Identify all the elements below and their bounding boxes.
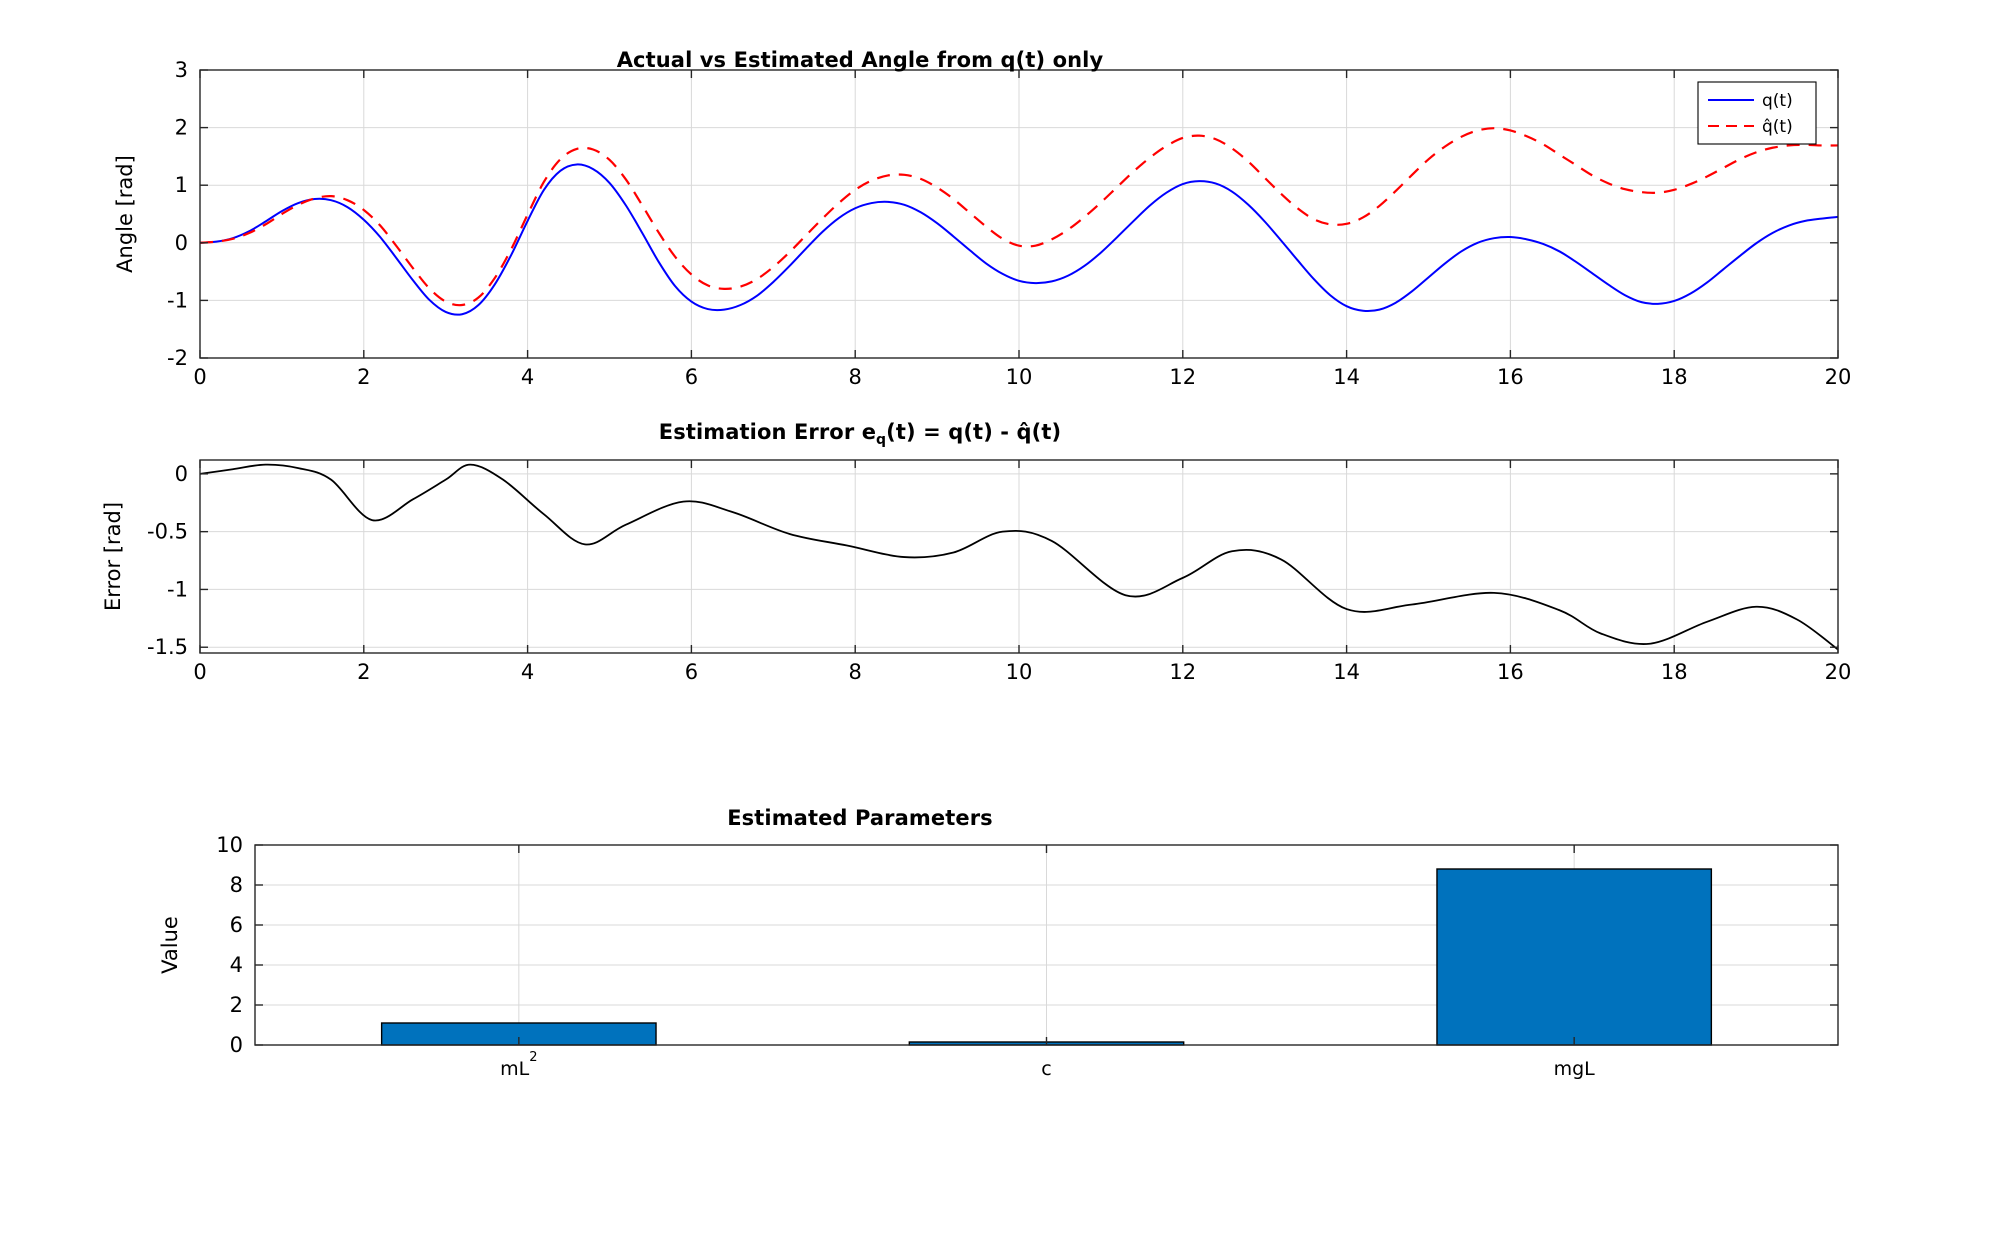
error-title-subscript: q	[876, 432, 886, 448]
y-tick-label: -1	[167, 288, 188, 312]
x-tick-label: 6	[685, 365, 698, 389]
bar-mgL[interactable]	[1437, 869, 1711, 1045]
y-tick-label: 0	[230, 1033, 243, 1057]
matlab-figure: Actual vs Estimated Angle from q(t) only…	[0, 0, 2000, 1250]
y-tick-label: 1	[175, 173, 188, 197]
x-tick-label: 8	[849, 660, 862, 684]
y-tick-label: 4	[230, 953, 243, 977]
x-tick-label: 8	[849, 365, 862, 389]
error-plot-area: 02468101214161820-1.5-1-0.50Error [rad]	[101, 460, 1851, 684]
parameters-y-axis-label: Value	[158, 916, 182, 974]
bar-category-label: mL2	[500, 1050, 537, 1081]
x-tick-label: 10	[1006, 365, 1033, 389]
legend-box	[1698, 82, 1816, 144]
parameters-plot-area: 0246810mL2cmgLValue	[158, 833, 1838, 1080]
angle-plot-area: 02468101214161820-2-10123Angle [rad]q(t)…	[113, 58, 1851, 389]
x-tick-label: 12	[1169, 365, 1196, 389]
y-tick-label: 10	[216, 833, 243, 857]
x-tick-label: 18	[1661, 365, 1688, 389]
y-tick-label: 6	[230, 913, 243, 937]
error-subplot: Estimation Error eq(t) = q(t) - q̂(t) 02…	[0, 415, 2000, 675]
x-tick-label: 2	[357, 660, 370, 684]
x-tick-label: 0	[193, 660, 206, 684]
angle-legend[interactable]: q(t)q̂(t)	[1698, 82, 1816, 144]
angle-subplot: Actual vs Estimated Angle from q(t) only…	[0, 40, 2000, 360]
x-tick-label: 20	[1825, 660, 1852, 684]
bar-category-label: c	[1041, 1058, 1051, 1080]
y-tick-label: 0	[175, 231, 188, 255]
error-y-axis-label: Error [rad]	[101, 502, 125, 611]
y-tick-label: -2	[167, 346, 188, 370]
x-tick-label: 6	[685, 660, 698, 684]
y-tick-label: 0	[175, 462, 188, 486]
parameters-plot-title: Estimated Parameters	[0, 806, 1860, 830]
x-tick-label: 14	[1333, 365, 1360, 389]
x-tick-label: 20	[1825, 365, 1852, 389]
legend-label-actual: q(t)	[1762, 91, 1793, 111]
y-tick-label: 2	[175, 116, 188, 140]
y-tick-label: -1	[167, 577, 188, 601]
x-tick-label: 0	[193, 365, 206, 389]
parameters-subplot: Estimated Parameters 0246810mL2cmgLValue	[0, 800, 2000, 1100]
bar-category-label: mgL	[1554, 1058, 1596, 1080]
y-tick-label: 2	[230, 993, 243, 1017]
angle-plot-title: Actual vs Estimated Angle from q(t) only	[0, 48, 1860, 72]
x-tick-label: 16	[1497, 365, 1524, 389]
x-tick-label: 16	[1497, 660, 1524, 684]
y-tick-label: -0.5	[147, 520, 188, 544]
legend-label-estimated: q̂(t)	[1762, 117, 1793, 137]
x-tick-label: 18	[1661, 660, 1688, 684]
x-tick-label: 4	[521, 660, 534, 684]
x-tick-label: 4	[521, 365, 534, 389]
x-tick-label: 14	[1333, 660, 1360, 684]
x-tick-label: 10	[1006, 660, 1033, 684]
error-plot-title: Estimation Error eq(t) = q(t) - q̂(t)	[0, 420, 1860, 448]
angle-y-axis-label: Angle [rad]	[113, 155, 137, 273]
error-title-prefix: Estimation Error e	[659, 420, 876, 444]
x-tick-label: 12	[1169, 660, 1196, 684]
y-tick-label: 8	[230, 873, 243, 897]
y-tick-label: -1.5	[147, 635, 188, 659]
error-title-suffix: (t) = q(t) - q̂(t)	[886, 420, 1061, 444]
x-tick-label: 2	[357, 365, 370, 389]
